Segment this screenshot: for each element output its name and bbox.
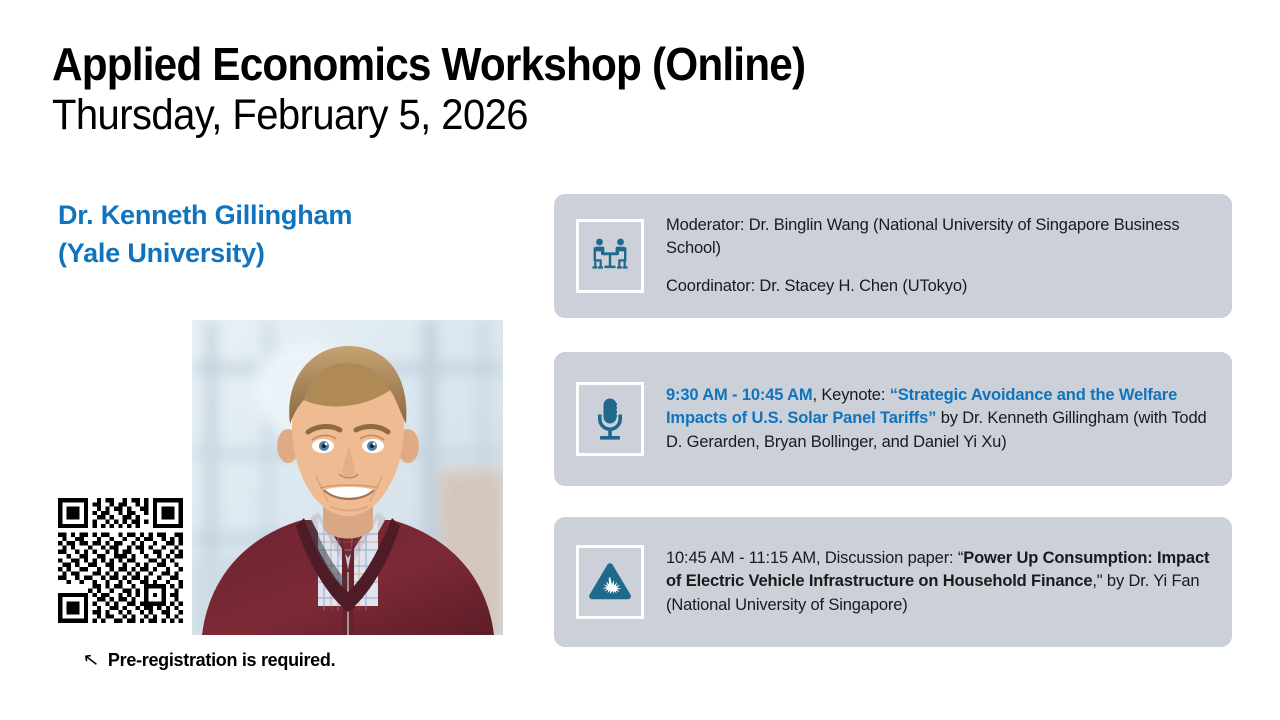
- coordinator-line: Coordinator: Dr. Stacey H. Chen (UTokyo): [666, 275, 1216, 299]
- discussion-card: 10:45 AM - 11:15 AM, Discussion paper: “…: [554, 517, 1232, 647]
- discussion-time: 10:45 AM - 11:15 AM, Discussion paper: “: [666, 549, 963, 567]
- moderator-card: Moderator: Dr. Binglin Wang (National Un…: [554, 194, 1232, 318]
- page-header: Applied Economics Workshop (Online) Thur…: [52, 38, 1232, 140]
- keynote-card-text: 9:30 AM - 10:45 AM, Keynote: “Strategic …: [666, 384, 1216, 455]
- discussion-card-text: 10:45 AM - 11:15 AM, Discussion paper: “…: [666, 547, 1216, 618]
- speaker-affiliation: (Yale University): [58, 234, 528, 272]
- keynote-line: 9:30 AM - 10:45 AM, Keynote: “Strategic …: [666, 384, 1216, 455]
- discussion-line: 10:45 AM - 11:15 AM, Discussion paper: “…: [666, 547, 1216, 618]
- speaker-heading: Dr. Kenneth Gillingham (Yale University): [58, 196, 528, 272]
- up-left-arrow-icon: ↖: [82, 650, 100, 671]
- keynote-time: 9:30 AM - 10:45 AM: [666, 386, 812, 404]
- explosion-triangle-icon: [576, 545, 644, 619]
- speaker-name: Dr. Kenneth Gillingham: [58, 196, 528, 234]
- page-title: Applied Economics Workshop (Online): [52, 38, 1138, 90]
- registration-qr-code[interactable]: [58, 498, 183, 623]
- microphone-icon: [576, 382, 644, 456]
- keynote-card: 9:30 AM - 10:45 AM, Keynote: “Strategic …: [554, 352, 1232, 486]
- pre-registration-note: ↖ Pre-registration is required.: [83, 650, 335, 671]
- page-date: Thursday, February 5, 2026: [52, 90, 1149, 140]
- meeting-table-icon: [576, 219, 644, 293]
- speaker-photo: [192, 320, 503, 635]
- pre-registration-text: Pre-registration is required.: [108, 650, 335, 671]
- keynote-label: , Keynote:: [812, 386, 889, 404]
- moderator-card-text: Moderator: Dr. Binglin Wang (National Un…: [666, 214, 1216, 299]
- moderator-line: Moderator: Dr. Binglin Wang (National Un…: [666, 214, 1216, 261]
